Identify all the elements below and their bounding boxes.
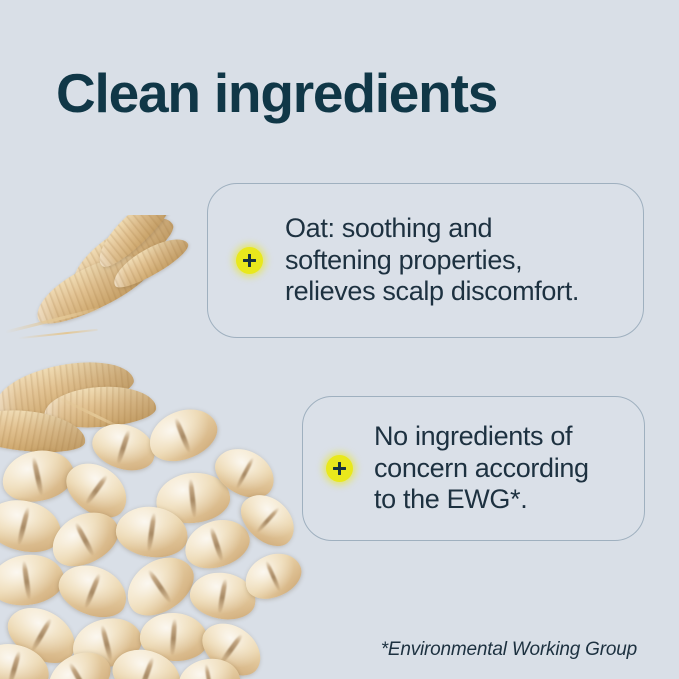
oat-flake: [175, 654, 244, 679]
oat-flake: [238, 545, 308, 607]
oat-spikelet: [89, 215, 179, 274]
oat-spikelet: [0, 352, 137, 424]
page-title: Clean ingredients: [56, 63, 497, 125]
oat-awn: [18, 329, 98, 339]
ingredient-card-ewg: No ingredients of concern according to t…: [302, 396, 645, 541]
oat-flake: [179, 512, 256, 576]
oat-flake: [207, 439, 282, 507]
oat-flake: [142, 400, 225, 471]
oat-flake: [57, 452, 137, 528]
ingredient-card-ewg-text: No ingredients of concern according to t…: [374, 421, 589, 516]
footnote-ewg-definition: *Environmental Working Group: [381, 639, 637, 661]
oat-flake: [0, 493, 67, 560]
oat-flake: [43, 501, 127, 576]
oat-flake: [116, 545, 204, 627]
oat-spikelet: [0, 405, 88, 457]
oat-flake: [67, 611, 147, 675]
oat-flake: [232, 484, 305, 555]
oat-flake: [0, 550, 67, 610]
oat-flake: [0, 636, 55, 679]
ingredient-card-oat-text: Oat: soothing and softening properties, …: [285, 213, 579, 308]
oat-flake: [39, 642, 119, 679]
oat-flake: [0, 444, 78, 508]
plus-icon: [236, 247, 263, 274]
oat-flake: [138, 611, 209, 664]
oat-flake: [0, 596, 85, 674]
clean-ingredients-panel: Clean ingredients Oat: soothing and soft…: [0, 0, 679, 679]
oat-flake: [187, 568, 260, 625]
oat-awn: [5, 307, 99, 333]
oat-spikelet: [107, 230, 193, 295]
oat-spikelet: [43, 383, 158, 431]
ingredient-card-oat: Oat: soothing and softening properties, …: [207, 183, 644, 338]
oat-flake: [113, 502, 191, 562]
oat-flake: [193, 612, 271, 679]
oat-flake: [87, 416, 161, 478]
plus-icon: [326, 455, 353, 482]
oat-spikelet: [61, 215, 181, 303]
oat-flake: [52, 556, 135, 627]
oat-flake: [154, 469, 233, 526]
oat-awn: [55, 395, 123, 430]
oat-spikelet: [27, 242, 159, 335]
oat-flake: [106, 640, 188, 679]
